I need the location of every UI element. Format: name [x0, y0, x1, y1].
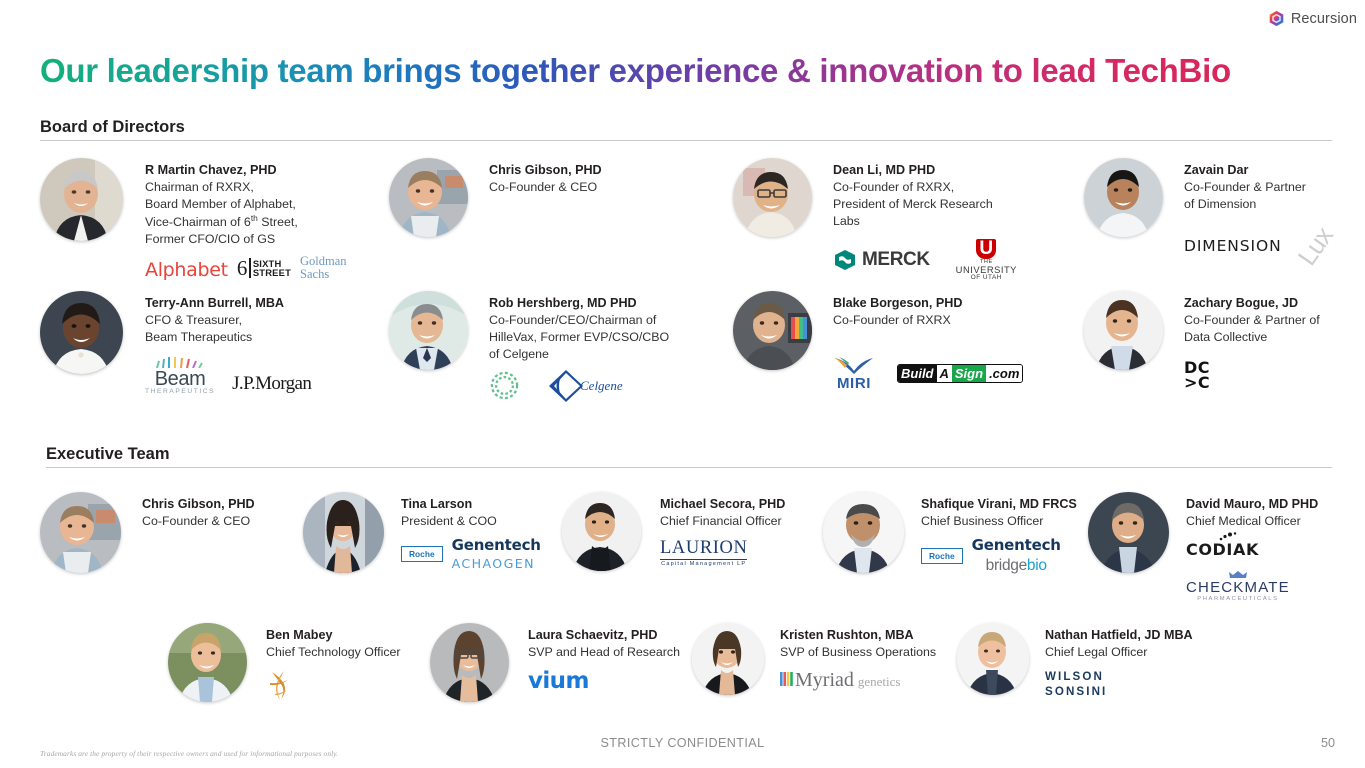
- logo-row: Roche Genentech ACHAOGEN: [401, 536, 541, 571]
- person-title-line: Co-Founder of RXRX,: [833, 180, 954, 194]
- logo-row: Beam THERAPEUTICS J.P.Morgan: [145, 356, 311, 395]
- laurion-capital-logo: LAURION Capital Management LP: [660, 538, 747, 567]
- laurion-wordmark: LAURION: [660, 538, 747, 560]
- avatar: [957, 623, 1029, 695]
- university-of-utah-logo: U THE UNIVERSITY OF UTAH: [956, 239, 1017, 281]
- slide-canvas: Recursion Our leadership team brings tog…: [0, 0, 1365, 768]
- portrait-photo: [1084, 158, 1163, 237]
- alphabet-logo: Alphabet: [145, 259, 228, 281]
- beam-rays-icon: [154, 356, 206, 368]
- recursion-hexagon-logo-icon: [1268, 10, 1285, 27]
- laurion-subtitle: Capital Management LP: [661, 561, 746, 567]
- person-title-line: Co-Founder & Partner of: [1184, 313, 1320, 327]
- person-name: Laura Schaevitz, PHD: [528, 627, 680, 644]
- wilson-line1: WILSON: [1045, 670, 1104, 683]
- codiak-logo: CODIAK: [1186, 540, 1259, 560]
- logo-row: [266, 669, 401, 701]
- beam-subtitle: THERAPEUTICS: [145, 388, 215, 395]
- logo-row: CODIAK CHECKMATE PHARMACEUTICALS: [1186, 540, 1365, 602]
- domo-logo: [266, 669, 294, 701]
- person-name: Tina Larson: [401, 496, 541, 513]
- portrait-photo: [168, 623, 247, 702]
- dcvc-logo: DC >C: [1184, 360, 1210, 390]
- logo-row: Myriad genetics: [780, 669, 936, 692]
- logo-row: MERCK U THE UNIVERSITY OF UTAH: [833, 239, 1017, 281]
- person-name: Blake Borgeson, PHD: [833, 295, 1023, 312]
- portrait-photo: [562, 492, 641, 571]
- miri-wordmark: MIRI: [837, 375, 871, 392]
- portrait-photo: [733, 291, 812, 370]
- page-number: 50: [1321, 736, 1335, 750]
- miri-logo: MIRI: [833, 355, 875, 392]
- bas-build: Build: [898, 365, 937, 382]
- person-title: Chief Technology Officer: [266, 644, 401, 661]
- sixth-street-numeral: 6: [237, 256, 248, 281]
- person-name: Michael Secora, PHD: [660, 496, 785, 513]
- logo-row: DC >C: [1184, 360, 1320, 390]
- crown-icon: [1228, 570, 1248, 579]
- roche-logo: Roche: [401, 546, 443, 562]
- myriad-genetics-text: genetics: [858, 674, 901, 690]
- avatar: [733, 291, 812, 370]
- myriad-text: Myriad: [795, 669, 854, 692]
- checkmate-subtitle: PHARMACEUTICALS: [1197, 596, 1278, 602]
- sixth-street-logo: 6 SIXTH STREET: [237, 256, 291, 281]
- avatar: [168, 623, 247, 702]
- section-board-of-directors: Board of Directors: [40, 118, 1332, 141]
- myriad-m-icon: [780, 669, 794, 686]
- checkmate-wordmark: CHECKMATE: [1186, 579, 1290, 596]
- genentech-logo: Genentech: [452, 536, 541, 554]
- sixth-street-word2: STREET: [253, 267, 291, 278]
- avatar: [1084, 291, 1163, 370]
- jpmorgan-logo: J.P.Morgan: [232, 373, 311, 395]
- avatar: [303, 492, 384, 573]
- person-name: Chris Gibson, PHD: [142, 496, 255, 513]
- person-title: Co-Founder & Partner of Data Collective: [1184, 312, 1320, 345]
- person-title: Co-Founder & Partner of Dimension: [1184, 179, 1335, 212]
- person-title: CFO & Treasurer, Beam Therapeutics: [145, 312, 311, 345]
- bas-com: .com: [986, 365, 1022, 382]
- achaogen-logo: ACHAOGEN: [452, 556, 535, 571]
- logo-row: WILSON SONSINI: [1045, 670, 1193, 699]
- portrait-photo: [733, 158, 812, 237]
- person-name: Shafique Virani, MD FRCS: [921, 496, 1077, 513]
- person-title: Co-Founder & CEO: [489, 179, 602, 196]
- person-name: David Mauro, MD PHD: [1186, 496, 1365, 513]
- portrait-photo: [40, 492, 121, 573]
- celgene-mark-icon: [548, 369, 584, 403]
- person-card[interactable]: Michael Secora, PHD Chief Financial Offi…: [562, 492, 785, 571]
- roche-logo: Roche: [921, 548, 963, 564]
- section-executive-team: Executive Team: [46, 445, 1332, 468]
- myriad-wordmark: Myriad: [780, 669, 854, 692]
- avatar: [389, 158, 468, 237]
- person-card[interactable]: Chris Gibson, PHD Co-Founder & CEO: [40, 492, 255, 573]
- person-title: Co-Founder/CEO/Chairman of HilleVax, For…: [489, 312, 669, 362]
- confidential-label: STRICTLY CONFIDENTIAL: [0, 736, 1365, 750]
- logo-row: LAURION Capital Management LP: [660, 538, 785, 567]
- person-title-line: Vice-Chairman of 6th Street,: [145, 215, 298, 229]
- miri-wings-icon: [833, 355, 875, 375]
- checkmate-pharmaceuticals-logo: CHECKMATE PHARMACEUTICALS: [1186, 570, 1290, 602]
- goldman-line2: Sachs: [300, 267, 329, 281]
- person-card[interactable]: R Martin Chavez, PHD Chairman of RXRX, B…: [40, 158, 347, 281]
- person-name: Dean Li, MD PHD: [833, 162, 1017, 179]
- merck-mark-icon: [833, 249, 857, 271]
- person-title-line: Data Collective: [1184, 330, 1267, 344]
- person-card[interactable]: Rob Hershberg, MD PHD Co-Founder/CEO/Cha…: [389, 291, 669, 403]
- person-title-line: of Celgene: [489, 347, 549, 361]
- celgene-logo: Celgene: [548, 369, 623, 403]
- person-title: Co-Founder of RXRX: [833, 312, 1023, 329]
- logo-row: vium: [528, 668, 680, 694]
- vium-logo: vium: [528, 668, 589, 694]
- person-card[interactable]: Zachary Bogue, JD Co-Founder & Partner o…: [1084, 291, 1320, 390]
- person-title: President & COO: [401, 513, 541, 530]
- person-title: Co-Founder & CEO: [142, 513, 255, 530]
- hillevax-logo: [489, 370, 520, 401]
- merck-wordmark: MERCK: [862, 249, 930, 271]
- trademark-note: Trademarks are the property of their res…: [40, 749, 338, 758]
- buildasign-logo: Build A Sign .com: [897, 364, 1023, 383]
- avatar: [389, 291, 468, 370]
- section-heading: Board of Directors: [40, 118, 1332, 137]
- brand-name: Recursion: [1291, 11, 1357, 27]
- portrait-photo: [1088, 492, 1169, 573]
- person-card[interactable]: Dean Li, MD PHD Co-Founder of RXRX, Pres…: [733, 158, 1017, 281]
- sixth-street-words: SIXTH STREET: [253, 259, 291, 279]
- bas-a: A: [937, 365, 952, 382]
- portrait-photo: [823, 492, 904, 573]
- avatar: [430, 623, 509, 702]
- wilson-sonsini-logo: WILSON SONSINI: [1045, 670, 1107, 699]
- person-title: Co-Founder of RXRX, President of Merck R…: [833, 179, 1017, 229]
- celgene-wordmark: Celgene: [580, 378, 623, 394]
- person-card[interactable]: Terry-Ann Burrell, MBA CFO & Treasurer, …: [40, 291, 311, 395]
- avatar: [562, 492, 641, 571]
- person-name: Chris Gibson, PHD: [489, 162, 602, 179]
- portrait-photo: [40, 158, 123, 241]
- person-name: Zachary Bogue, JD: [1184, 295, 1320, 312]
- person-title-line: Board Member of Alphabet,: [145, 197, 296, 211]
- dcvc-line2: >C: [1184, 373, 1210, 392]
- portrait-photo: [389, 158, 468, 237]
- person-card[interactable]: Shafique Virani, MD FRCS Chief Business …: [823, 492, 1077, 575]
- logo-row: Roche Genentech bridgebio: [921, 536, 1077, 575]
- person-card[interactable]: Tina Larson President & COO Roche Genent…: [303, 492, 541, 573]
- logo-row: DIMENSION Lux: [1184, 231, 1335, 262]
- page-title: Our leadership team brings together expe…: [40, 52, 1231, 90]
- person-name: R Martin Chavez, PHD: [145, 162, 347, 179]
- person-name: Zavain Dar: [1184, 162, 1335, 179]
- person-title: SVP and Head of Research: [528, 644, 680, 661]
- person-card[interactable]: Nathan Hatfield, JD MBA Chief Legal Offi…: [957, 623, 1193, 699]
- person-title-line: Beam Therapeutics: [145, 330, 252, 344]
- person-title: Chairman of RXRX, Board Member of Alphab…: [145, 179, 347, 247]
- merck-logo: MERCK: [833, 249, 930, 271]
- portrait-photo: [692, 623, 764, 695]
- person-title-line: Co-Founder & Partner: [1184, 180, 1306, 194]
- person-card[interactable]: David Mauro, MD PHD Chief Medical Office…: [1088, 492, 1365, 602]
- bas-sign: Sign: [952, 365, 986, 382]
- utah-u-mark: U: [976, 239, 996, 259]
- person-name: Kristen Rushton, MBA: [780, 627, 936, 644]
- bridgebio-part2: bio: [1027, 557, 1047, 574]
- genentech-bridgebio-stack: Genentech bridgebio: [972, 536, 1061, 575]
- person-name: Nathan Hatfield, JD MBA: [1045, 627, 1193, 644]
- person-title-line: CFO & Treasurer,: [145, 313, 242, 327]
- avatar: [1084, 158, 1163, 237]
- avatar: [823, 492, 904, 573]
- codiak-wordmark: CODIAK: [1186, 540, 1259, 559]
- logo-row: Celgene: [489, 369, 669, 403]
- goldman-sachs-logo: Goldman Sachs: [300, 255, 347, 281]
- beam-therapeutics-logo: Beam THERAPEUTICS: [145, 356, 215, 395]
- portrait-photo: [40, 291, 123, 374]
- portrait-photo: [1084, 291, 1163, 370]
- person-card[interactable]: Blake Borgeson, PHD Co-Founder of RXRX M…: [733, 291, 1023, 392]
- dimension-logo: DIMENSION: [1184, 237, 1282, 255]
- portrait-photo: [303, 492, 384, 573]
- utah-of-utah: OF UTAH: [971, 275, 1002, 281]
- person-title-line: Labs: [833, 214, 860, 228]
- myriad-genetics-logo: Myriad genetics: [780, 669, 900, 692]
- person-title: Chief Medical Officer: [1186, 513, 1365, 530]
- logo-row: MIRI Build A Sign .com: [833, 355, 1023, 392]
- bridgebio-logo: bridgebio: [986, 557, 1047, 575]
- avatar: [40, 158, 123, 241]
- person-title-line: of Dimension: [1184, 197, 1256, 211]
- person-title: Chief Financial Officer: [660, 513, 785, 530]
- bridgebio-part1: bridge: [986, 557, 1027, 574]
- lux-capital-logo: Lux: [1291, 222, 1339, 272]
- brand-logo: Recursion: [1268, 10, 1357, 27]
- section-divider: [40, 140, 1332, 141]
- genentech-achaogen-stack: Genentech ACHAOGEN: [452, 536, 541, 571]
- person-title-line: Co-Founder/CEO/Chairman of: [489, 313, 656, 327]
- person-title: Chief Legal Officer: [1045, 644, 1193, 661]
- portrait-photo: [389, 291, 468, 370]
- section-heading: Executive Team: [46, 445, 1332, 464]
- section-divider: [46, 467, 1332, 468]
- person-title: Chief Business Officer: [921, 513, 1077, 530]
- genentech-logo: Genentech: [972, 536, 1061, 554]
- avatar: [692, 623, 764, 695]
- person-title-line: President of Merck Research: [833, 197, 993, 211]
- person-card[interactable]: Chris Gibson, PHD Co-Founder & CEO: [389, 158, 602, 237]
- person-name: Ben Mabey: [266, 627, 401, 644]
- codiak-dots-icon: [1218, 532, 1238, 541]
- avatar: [40, 291, 123, 374]
- person-card[interactable]: Kristen Rushton, MBA SVP of Business Ope…: [692, 623, 936, 695]
- person-title: SVP of Business Operations: [780, 644, 936, 661]
- avatar: [40, 492, 121, 573]
- person-card[interactable]: Ben Mabey Chief Technology Officer: [168, 623, 401, 702]
- person-title-line: HilleVax, Former EVP/CSO/CBO: [489, 330, 669, 344]
- avatar: [1088, 492, 1169, 573]
- portrait-photo: [957, 623, 1029, 695]
- logo-row: Alphabet 6 SIXTH STREET Goldman Sachs: [145, 255, 347, 281]
- portrait-photo: [430, 623, 509, 702]
- person-card[interactable]: Zavain Dar Co-Founder & Partner of Dimen…: [1084, 158, 1335, 262]
- wilson-line2: SONSINI: [1045, 685, 1107, 698]
- hillevax-ring-icon: [489, 370, 520, 401]
- divider-bar: [249, 258, 251, 278]
- avatar: [733, 158, 812, 237]
- person-name: Rob Hershberg, MD PHD: [489, 295, 669, 312]
- person-title-line: Chairman of RXRX,: [145, 180, 254, 194]
- domo-mark-icon: [266, 669, 294, 701]
- person-name: Terry-Ann Burrell, MBA: [145, 295, 311, 312]
- person-title-line: Former CFO/CIO of GS: [145, 232, 275, 246]
- person-card[interactable]: Laura Schaevitz, PHD SVP and Head of Res…: [430, 623, 680, 702]
